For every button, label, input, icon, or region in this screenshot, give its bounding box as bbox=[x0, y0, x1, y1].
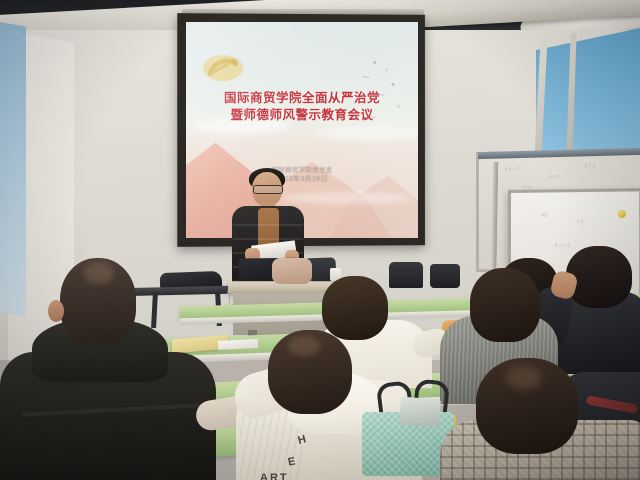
puffer-seam bbox=[233, 238, 303, 240]
puffer-seam bbox=[233, 224, 303, 226]
hair-highlight bbox=[288, 336, 320, 356]
whiteboard-scrawl: a b c bbox=[549, 174, 560, 180]
whiteboard-scrawl: 4 x + 2 bbox=[555, 243, 570, 249]
whiteboard-scrawl: 3 7 5 bbox=[584, 163, 596, 169]
whiteboard-scrawl: AB bbox=[541, 213, 548, 219]
slide-cloud-graphic bbox=[316, 126, 418, 140]
slide-date: 2023年3月28日 bbox=[186, 175, 418, 185]
hair-highlight bbox=[506, 366, 542, 390]
slide-title-line-1: 国际商贸学院全面从严治党 bbox=[186, 90, 418, 107]
whiteboard-scrawl: x y bbox=[577, 219, 584, 225]
bird-icon: ✦ bbox=[390, 82, 396, 89]
glasses-icon bbox=[253, 185, 283, 194]
slide-title-block: 国际商贸学院全面从严治党 暨师德师风警示教育会议 bbox=[186, 90, 418, 124]
left-window-strip bbox=[0, 22, 26, 317]
communist-party-emblem-icon bbox=[200, 50, 246, 84]
student-background bbox=[272, 258, 312, 284]
chair bbox=[389, 262, 423, 288]
whiteboard-scrawl: 4 x + 2 bbox=[505, 166, 520, 172]
hair-highlight bbox=[84, 262, 114, 284]
slide-organization: 国际商贸学院党总支 bbox=[186, 166, 418, 175]
whiteboard-magnet bbox=[618, 210, 626, 218]
student-right-grey-head bbox=[470, 268, 540, 342]
chair bbox=[430, 264, 460, 288]
bird-icon: ✦ bbox=[372, 60, 378, 67]
slide-title-line-2: 暨师德师风警示教育会议 bbox=[186, 107, 418, 124]
projected-slide: ✦ ✧ 〜 ✦ 〜 ✧ 〜 国际商贸学院全面从严治党 暨师德师风警示教育会议 国… bbox=[186, 22, 418, 238]
student-front-left-ear bbox=[48, 300, 64, 322]
handbag-flap bbox=[399, 397, 441, 428]
classroom-photo: ✦ ✧ 〜 ✦ 〜 ✧ 〜 国际商贸学院全面从严治党 暨师德师风警示教育会议 国… bbox=[0, 0, 640, 480]
slide-cloud-graphic bbox=[282, 192, 412, 204]
student-second-row-head bbox=[322, 276, 388, 340]
slide-subtitle-block: 国际商贸学院党总支 2023年3月28日 bbox=[186, 166, 418, 185]
bird-icon: 〜 bbox=[362, 74, 370, 81]
bird-icon: ✧ bbox=[384, 68, 389, 75]
